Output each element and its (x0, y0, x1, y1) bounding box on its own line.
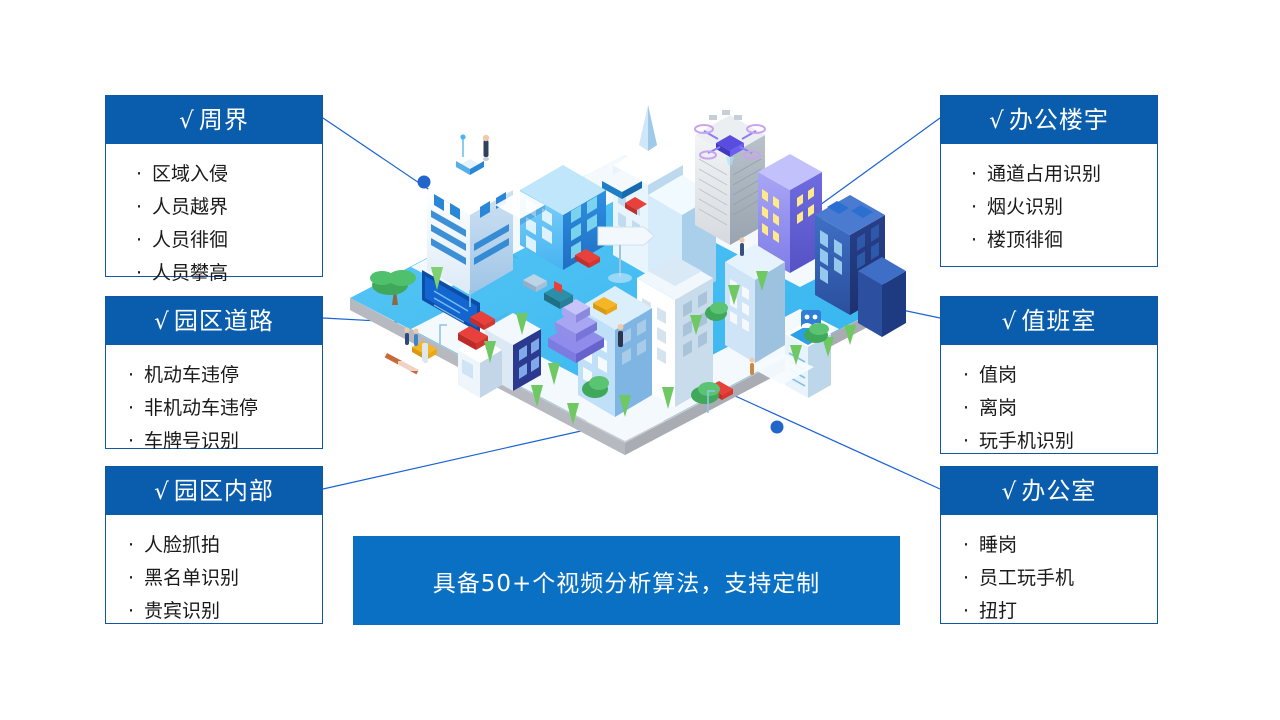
bullet-icon: · (971, 191, 987, 224)
card-campus-interior[interactable]: √园区内部 ·人脸抓拍 ·黑名单识别 ·贵宾识别 (105, 466, 323, 624)
list-item[interactable]: ·人员徘徊 (136, 224, 322, 257)
list-item[interactable]: ·值岗 (963, 359, 1157, 392)
list-item-label: 睡岗 (979, 534, 1017, 556)
card-office-building-title: 办公楼宇 (1009, 106, 1109, 134)
list-item[interactable]: ·员工玩手机 (963, 562, 1157, 595)
list-item-label: 非机动车违停 (144, 397, 258, 419)
list-item-label: 人脸抓拍 (144, 534, 220, 556)
list-item-label: 区域入侵 (152, 163, 228, 185)
card-perimeter[interactable]: √周界 ·区域入侵 ·人员越界 ·人员徘徊 ·人员攀高 (105, 95, 323, 277)
list-item[interactable]: ·区域入侵 (136, 158, 322, 191)
bullet-icon: · (136, 191, 152, 224)
list-item[interactable]: ·黑名单识别 (128, 562, 322, 595)
card-office-title: 办公室 (1021, 477, 1096, 505)
list-item-label: 员工玩手机 (979, 567, 1074, 589)
check-icon: √ (1002, 479, 1018, 505)
card-duty-room-title: 值班室 (1021, 307, 1096, 335)
list-item[interactable]: ·睡岗 (963, 529, 1157, 562)
list-item[interactable]: ·车牌号识别 (128, 425, 322, 458)
bullet-icon: · (971, 224, 987, 257)
list-item[interactable]: ·烟火识别 (971, 191, 1157, 224)
list-item-label: 玩手机识别 (979, 430, 1074, 452)
building-grey-highrise (695, 110, 765, 245)
list-item[interactable]: ·贵宾识别 (128, 595, 322, 628)
summary-banner: 具备50+个视频分析算法，支持定制 (353, 536, 900, 625)
list-item-label: 扭打 (979, 600, 1017, 622)
card-campus-interior-body: ·人脸抓拍 ·黑名单识别 ·贵宾识别 (106, 515, 322, 642)
bullet-icon: · (128, 595, 144, 628)
check-icon: √ (154, 309, 170, 335)
list-item[interactable]: ·机动车违停 (128, 359, 322, 392)
isometric-city-illustration (330, 95, 920, 465)
list-item-label: 黑名单识别 (144, 567, 239, 589)
list-item-label: 贵宾识别 (144, 600, 220, 622)
list-item-label: 人员攀高 (152, 262, 228, 284)
list-item[interactable]: ·非机动车违停 (128, 392, 322, 425)
list-item-label: 值岗 (979, 364, 1017, 386)
card-office-building-header: √办公楼宇 (941, 96, 1157, 144)
card-perimeter-title: 周界 (199, 106, 249, 134)
rooftop-person (483, 135, 489, 161)
check-icon: √ (154, 479, 170, 505)
bullet-icon: · (128, 529, 144, 562)
list-item-label: 机动车违停 (144, 364, 239, 386)
card-campus-road[interactable]: √园区道路 ·机动车违停 ·非机动车违停 ·车牌号识别 (105, 296, 323, 449)
card-office-building[interactable]: √办公楼宇 ·通道占用识别 ·烟火识别 ·楼顶徘徊 (940, 95, 1158, 267)
list-item[interactable]: ·楼顶徘徊 (971, 224, 1157, 257)
card-duty-room-body: ·值岗 ·离岗 ·玩手机识别 (941, 345, 1157, 472)
list-item-label: 人员徘徊 (152, 229, 228, 251)
card-campus-interior-header: √园区内部 (106, 467, 322, 515)
card-office-body: ·睡岗 ·员工玩手机 ·扭打 (941, 515, 1157, 642)
bullet-icon: · (963, 392, 979, 425)
card-perimeter-body: ·区域入侵 ·人员越界 ·人员徘徊 ·人员攀高 (106, 144, 322, 304)
card-office-building-body: ·通道占用识别 ·烟火识别 ·楼顶徘徊 (941, 144, 1157, 271)
bullet-icon: · (963, 425, 979, 458)
list-item[interactable]: ·玩手机识别 (963, 425, 1157, 458)
list-item-label: 通道占用识别 (987, 163, 1101, 185)
list-item[interactable]: ·扭打 (963, 595, 1157, 628)
building-navy-low (858, 257, 906, 337)
list-item[interactable]: ·通道占用识别 (971, 158, 1157, 191)
card-office-header: √办公室 (941, 467, 1157, 515)
bullet-icon: · (128, 359, 144, 392)
card-campus-road-body: ·机动车违停 ·非机动车违停 ·车牌号识别 (106, 345, 322, 472)
list-item-label: 车牌号识别 (144, 430, 239, 452)
list-item-label: 楼顶徘徊 (987, 229, 1063, 251)
summary-banner-text: 具备50+个视频分析算法，支持定制 (433, 564, 821, 598)
list-item-label: 烟火识别 (987, 196, 1063, 218)
list-item[interactable]: ·人脸抓拍 (128, 529, 322, 562)
list-item-label: 离岗 (979, 397, 1017, 419)
slide-canvas: √周界 ·区域入侵 ·人员越界 ·人员徘徊 ·人员攀高 √园区道路 ·机动车违停… (0, 0, 1280, 720)
card-office[interactable]: √办公室 ·睡岗 ·员工玩手机 ·扭打 (940, 466, 1158, 624)
card-duty-room-header: √值班室 (941, 297, 1157, 345)
bullet-icon: · (136, 158, 152, 191)
list-item-label: 人员越界 (152, 196, 228, 218)
bullet-icon: · (963, 562, 979, 595)
bullet-icon: · (963, 359, 979, 392)
list-item[interactable]: ·离岗 (963, 392, 1157, 425)
card-perimeter-header: √周界 (106, 96, 322, 144)
bullet-icon: · (128, 562, 144, 595)
card-campus-road-title: 园区道路 (174, 307, 274, 335)
bullet-icon: · (963, 529, 979, 562)
check-icon: √ (989, 108, 1005, 134)
bullet-icon: · (128, 392, 144, 425)
bullet-icon: · (128, 425, 144, 458)
check-icon: √ (1002, 309, 1018, 335)
bullet-icon: · (971, 158, 987, 191)
card-campus-interior-title: 园区内部 (174, 477, 274, 505)
list-item[interactable]: ·人员越界 (136, 191, 322, 224)
card-duty-room[interactable]: √值班室 ·值岗 ·离岗 ·玩手机识别 (940, 296, 1158, 454)
bullet-icon: · (136, 224, 152, 257)
list-item[interactable]: ·人员攀高 (136, 257, 322, 290)
bullet-icon: · (136, 257, 152, 290)
check-icon: √ (179, 108, 195, 134)
card-campus-road-header: √园区道路 (106, 297, 322, 345)
bullet-icon: · (963, 595, 979, 628)
